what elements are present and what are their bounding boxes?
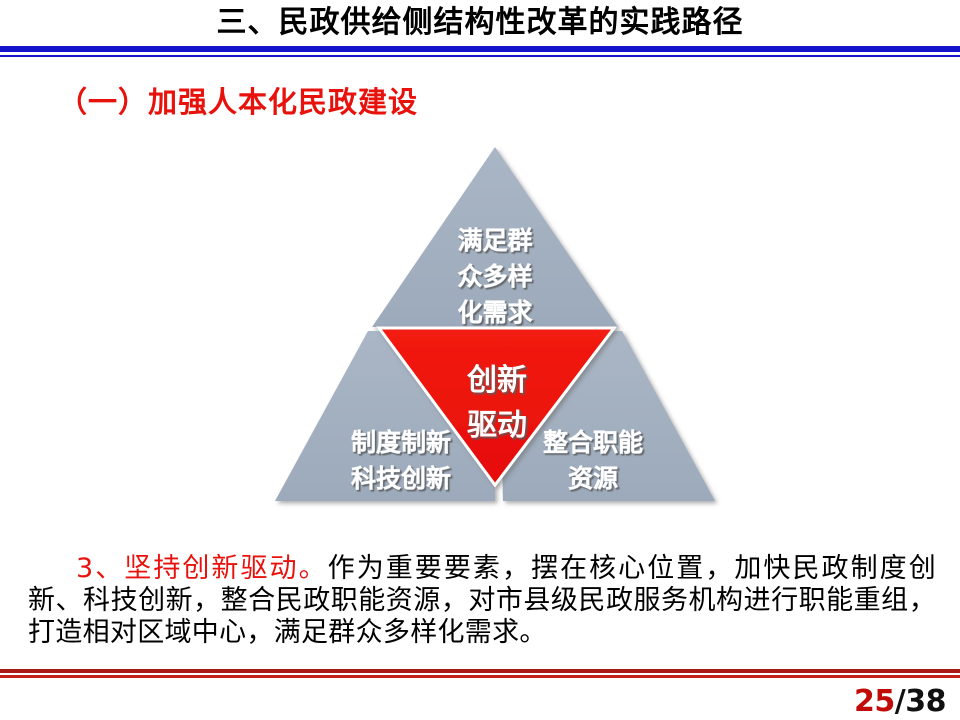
pyramid-bottom-right-label-line2: 资源 (568, 464, 618, 493)
pyramid-top-label-line2: 众多样 (457, 262, 532, 291)
pyramid-core-label-line2: 驱动 (467, 408, 527, 443)
body-paragraph: 3、坚持创新驱动。作为重要要素，摆在核心位置，加快民政制度创新、科技创新，整合民… (28, 553, 936, 649)
page-title: 三、民政供给侧结构性改革的实践路径 (0, 4, 960, 42)
page-number-total: /38 (895, 684, 946, 719)
paragraph-highlight: 3、坚持创新驱动。 (76, 553, 328, 584)
section-subtitle: （一）加强人本化民政建设 (58, 79, 418, 121)
pyramid-core-label-line1: 创新 (466, 363, 527, 398)
pyramid-top-segment: 满足群 众多样 化需求 (372, 147, 618, 327)
title-divider (0, 46, 960, 58)
page-number-current: 25 (854, 684, 895, 719)
title-divider-thin (0, 55, 960, 57)
footer-divider (0, 669, 960, 679)
innovation-pyramid-diagram: 满足群 众多样 化需求 制度制新 科技创新 整合职能 资源 创新 驱动 (255, 135, 735, 515)
pyramid-bottom-right-label-line1: 整合职能 (543, 428, 643, 457)
pyramid-bottom-left-label-line1: 制度制新 (351, 428, 451, 457)
pyramid-top-label-line3: 化需求 (457, 298, 532, 327)
page-number: 25/38 (854, 684, 946, 719)
footer-divider-bottom (0, 675, 960, 678)
pyramid-top-label-line1: 满足群 (457, 226, 532, 255)
pyramid-bottom-left-label-line2: 科技创新 (351, 464, 451, 493)
